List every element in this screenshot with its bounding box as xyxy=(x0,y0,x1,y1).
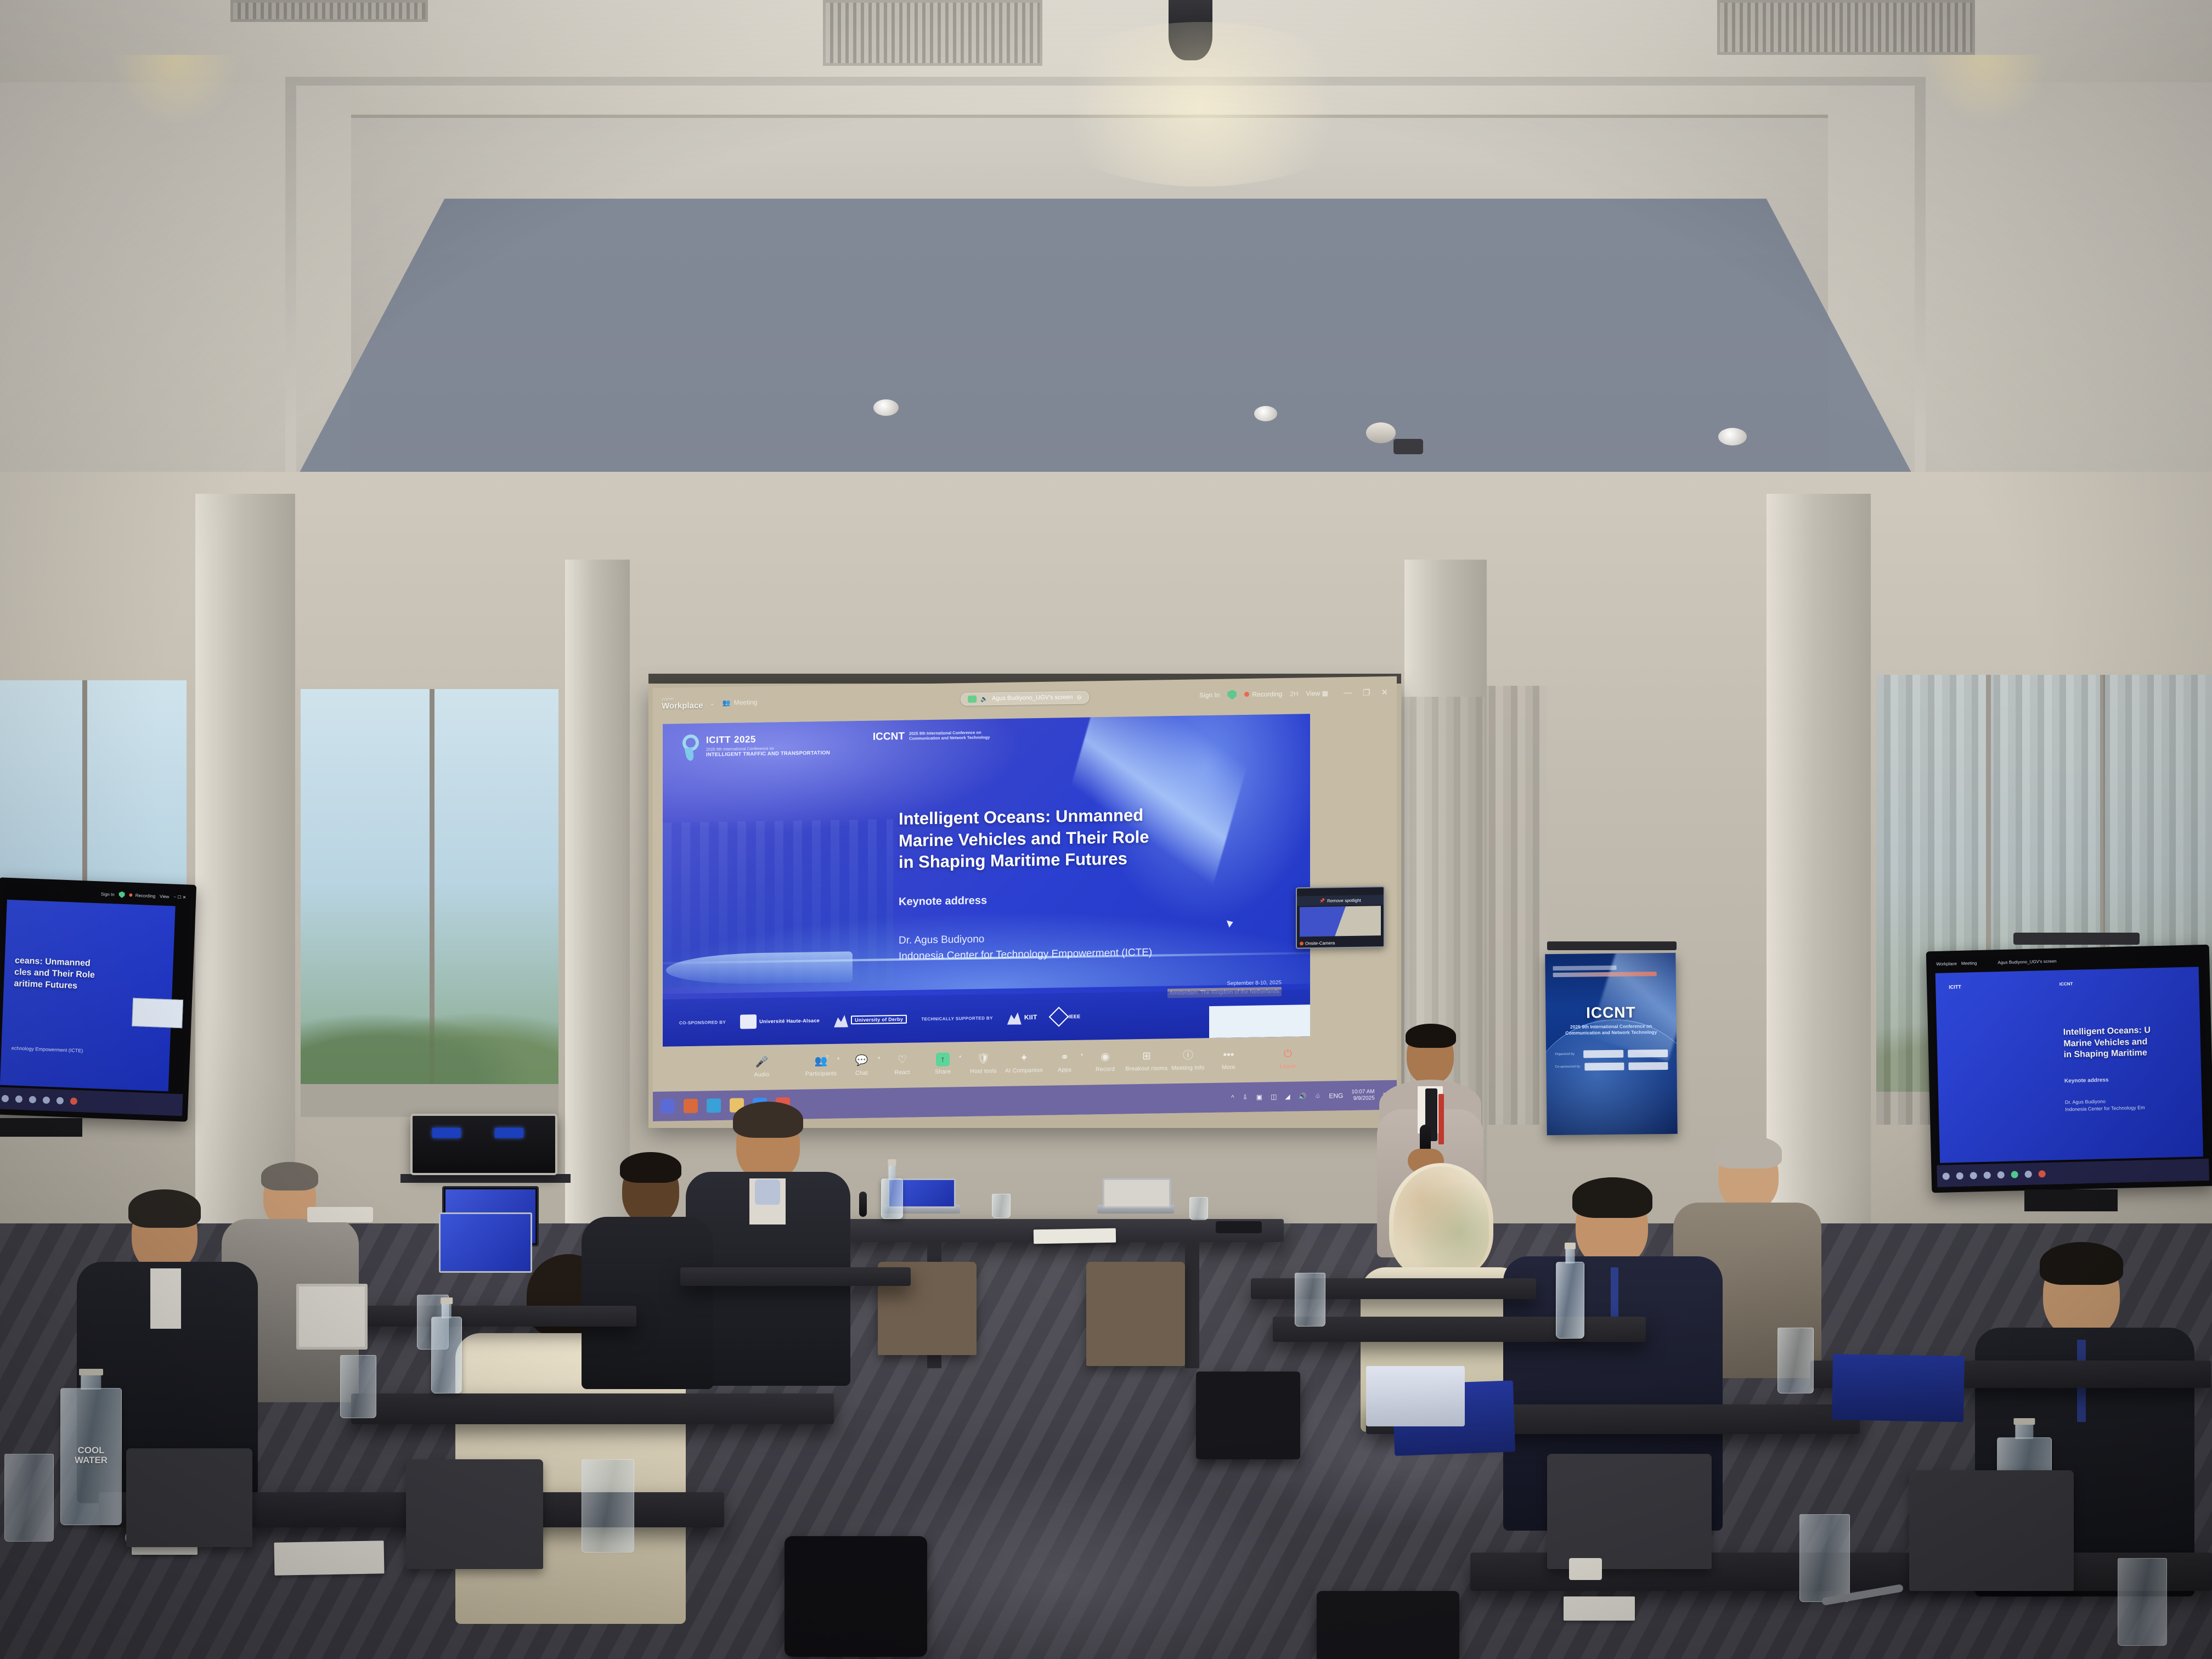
window-sill xyxy=(301,1084,558,1117)
meeting-duration: 2H xyxy=(1290,690,1298,698)
zoom-brand-line2: Workplace xyxy=(662,701,703,711)
view-button[interactable]: View ▦ xyxy=(1306,690,1328,698)
side-monitor-left-stand xyxy=(0,1118,82,1137)
conference-folder xyxy=(1366,1366,1465,1426)
toolbar-label: Audio xyxy=(754,1071,770,1077)
toolbar-label: Record xyxy=(1096,1065,1115,1073)
water-bottle xyxy=(881,1178,903,1219)
banner-header-lines xyxy=(1553,965,1668,979)
drinking-glass xyxy=(4,1454,54,1542)
water-bottle-cool-water: COOL WATER xyxy=(60,1388,122,1525)
zoom-brand: Workplace xyxy=(1936,961,1957,967)
slide-conference-logos: ICITT2025 2025 9th International Confere… xyxy=(682,730,997,760)
audience-table xyxy=(329,1306,636,1327)
structural-column xyxy=(565,560,630,1229)
sponsor-logo-uha: Université Haute-Alsace xyxy=(740,1011,820,1031)
view-label: View xyxy=(160,894,170,899)
toolbar-button-breakout-rooms[interactable]: ⊞Breakout rooms xyxy=(1126,1049,1168,1072)
supporter-logo-ieee: IEEE xyxy=(1052,1007,1081,1026)
paper-sheet xyxy=(307,1207,373,1222)
audience-table xyxy=(1251,1278,1536,1299)
chevron-up-icon[interactable]: ▲ xyxy=(877,1056,881,1059)
monitor-top-rail xyxy=(2013,933,2140,945)
toolbar-label: React xyxy=(894,1069,910,1075)
chair xyxy=(1909,1470,2074,1591)
banner-logo-rows: Organized by Co-sponsored by xyxy=(1555,1049,1668,1071)
hair xyxy=(261,1162,318,1190)
record-icon: ◉ xyxy=(1098,1049,1112,1063)
icitt-droplet-icon xyxy=(682,735,701,760)
paper-sheet xyxy=(1564,1596,1635,1621)
breakout-rooms-icon xyxy=(29,1096,36,1103)
table-microphone xyxy=(859,1192,867,1217)
minimize-button[interactable]: — xyxy=(1344,688,1352,698)
perforated-ceiling-grid xyxy=(285,199,1926,499)
recording-status[interactable]: Recording xyxy=(1244,690,1282,698)
table-leg xyxy=(1185,1242,1199,1368)
mixer-display-left xyxy=(432,1128,461,1138)
ceiling-sensor xyxy=(1393,439,1423,454)
chevron-up-icon[interactable]: ▲ xyxy=(958,1054,962,1058)
teams-icon[interactable] xyxy=(661,1099,675,1113)
toolbar-label: Breakout rooms xyxy=(1126,1065,1168,1072)
zoom-workplace-brand: zoom Workplace xyxy=(662,697,703,710)
share-source-label: Agus Budiyono_UGV's screen xyxy=(1997,958,2057,965)
toolbar-button-leave[interactable]: ⏻Leave xyxy=(1267,1047,1308,1070)
banner-subtitle: 2025 9th International Conference on Com… xyxy=(1555,1023,1668,1037)
side-right-slide: ICITT ICCNT Intelligent Oceans: U Marine… xyxy=(1936,967,2203,1163)
bag xyxy=(1317,1591,1459,1659)
sign-in-label: Sign In xyxy=(101,891,115,897)
toolbar-label: More xyxy=(1222,1064,1235,1070)
conference-room-photo: zoom Workplace ⌄ 👥 Meeting 🔈 Agus Budiyo… xyxy=(0,0,2212,1659)
toolbar-label: Host tools xyxy=(970,1068,997,1075)
audience-table xyxy=(351,1393,834,1424)
host-tools-icon: 🛡 xyxy=(977,1052,990,1065)
iccnt-sub: 2025 9th International Conference on Com… xyxy=(909,730,997,741)
side-monitor-left: Sign In Recording View − ☐ ✕ ceans: Unma… xyxy=(0,877,196,1122)
side-right-toolbar xyxy=(1937,1159,2209,1187)
remove-spotlight-button[interactable]: 📌 Remove spotlight xyxy=(1297,895,1384,906)
structural-column xyxy=(195,494,295,1262)
screenshot-icon[interactable]: ▣ xyxy=(1256,1093,1262,1101)
volume-icon[interactable]: 🔊 xyxy=(1299,1092,1307,1100)
toolbar-button-react[interactable]: ♡React xyxy=(882,1053,923,1076)
leave-meeting-icon xyxy=(70,1097,77,1104)
av-shelf xyxy=(400,1174,571,1183)
mic-muted-icon xyxy=(1300,941,1304,945)
side-left-title: ceans: Unmanned cles and Their Role arit… xyxy=(14,956,163,996)
chair xyxy=(1547,1454,1712,1569)
laptop-screen xyxy=(296,1284,368,1350)
icitt-acronym: ICITT2025 xyxy=(706,732,830,746)
water-bottle-label: COOL WATER xyxy=(61,1446,121,1465)
stop-share-icon[interactable]: ⊖ xyxy=(1077,693,1082,701)
apps-icon: ⚭ xyxy=(1058,1051,1071,1064)
tab-meeting-label: Meeting xyxy=(1961,961,1977,966)
people-icon: 👥 xyxy=(723,699,731,707)
ai-companion-icon: ✦ xyxy=(1017,1051,1031,1065)
ceiling-band xyxy=(285,77,296,499)
taskbar-clock[interactable]: 10:07 AM 9/9/2025 xyxy=(1351,1088,1374,1103)
more-icon xyxy=(2025,1170,2032,1177)
toolbar-label: AI Companion xyxy=(1005,1066,1043,1074)
ceiling-band xyxy=(1915,77,1926,499)
ceiling xyxy=(0,0,2212,494)
clock-date: 9/9/2025 xyxy=(1351,1095,1374,1102)
toolbar-label: Apps xyxy=(1058,1066,1071,1073)
zoom-titlebar-right: Sign In Recording 2H View ▦ — ❐ ✕ xyxy=(1199,687,1388,700)
name-card xyxy=(1569,1558,1602,1580)
banner-logo-row: Organized by xyxy=(1555,1049,1668,1058)
hair xyxy=(1572,1177,1652,1218)
toolbar-button-record[interactable]: ◉Record xyxy=(1085,1049,1126,1073)
chair xyxy=(406,1459,543,1569)
chair xyxy=(126,1448,252,1547)
bluetooth-icon[interactable]: ♧ xyxy=(1315,1092,1321,1100)
pendant-light-glow xyxy=(1031,22,1372,187)
side-right-author: Dr. Agus Budiyono Indonesia Center for T… xyxy=(2065,1097,2145,1113)
side-right-title: Intelligent Oceans: U Marine Vehicles an… xyxy=(2063,1024,2185,1062)
backpack xyxy=(785,1536,927,1657)
side-left-affiliation: echnology Empowerment (ICTE) xyxy=(12,1045,83,1054)
drinking-glass xyxy=(1799,1514,1850,1602)
drinking-glass xyxy=(992,1194,1011,1218)
zoom-meeting-window[interactable]: zoom Workplace ⌄ 👥 Meeting 🔈 Agus Budiyo… xyxy=(653,676,1397,1121)
shirt xyxy=(150,1268,181,1329)
onedrive-icon[interactable]: ⇩ xyxy=(1243,1093,1248,1101)
hair xyxy=(733,1102,803,1138)
selfview-video-feed xyxy=(1300,906,1381,936)
side-left-selfview xyxy=(132,998,183,1028)
toolbar-label: Share xyxy=(935,1068,951,1075)
side-right-kicker: Keynote address xyxy=(2064,1077,2109,1085)
clock-time: 10:07 AM xyxy=(1351,1088,1374,1096)
side-left-slide: ceans: Unmanned cles and Their Role arit… xyxy=(0,900,175,1092)
cosponsor-label: CO-SPONSORED BY xyxy=(679,1019,726,1025)
ceiling-dome-light xyxy=(1718,428,1747,445)
chevron-down-icon[interactable]: ⌄ xyxy=(710,699,715,707)
toolbar-button-audio[interactable]: 🎤Audio xyxy=(742,1055,782,1078)
drinking-glass xyxy=(1189,1197,1208,1220)
remove-spotlight-label: Remove spotlight xyxy=(1327,898,1361,903)
screen-share-icon xyxy=(968,695,977,702)
toolbar-button-apps[interactable]: ⚭▲Apps xyxy=(1045,1050,1085,1073)
window-controls: − ☐ ✕ xyxy=(173,894,186,900)
heart-icon: ♡ xyxy=(895,1053,909,1066)
ceiling-dome-light xyxy=(873,399,899,416)
more-icon: ••• xyxy=(1222,1048,1235,1062)
toolbar-button-participants[interactable]: 👥7▲Participants xyxy=(801,1054,842,1077)
slide-overlap-white-box xyxy=(1209,1005,1310,1038)
speaker-icon: 🔈 xyxy=(980,695,988,702)
conference-tote-bag xyxy=(1832,1354,1965,1422)
presenter-lanyard xyxy=(1438,1094,1444,1144)
toolbar-separator xyxy=(1249,1058,1267,1059)
tab-meeting[interactable]: 👥 Meeting xyxy=(723,698,758,707)
participants-icon xyxy=(1956,1172,1963,1179)
slide-kicker: Keynote address xyxy=(899,894,987,909)
laptop-screen xyxy=(1103,1178,1171,1208)
water-bottle xyxy=(1556,1262,1584,1339)
slide-author: Dr. Agus Budiyono Indonesia Center for T… xyxy=(899,929,1152,964)
side-monitor-right-screen: Workplace Meeting Agus Budiyono_UGV's sc… xyxy=(1932,950,2209,1187)
toolbar-button-ai-companion[interactable]: ✦AI Companion xyxy=(1004,1051,1045,1074)
banner-logo-row: Co-sponsored by xyxy=(1555,1062,1668,1071)
cove-light xyxy=(110,55,241,126)
audience-table xyxy=(1273,1317,1646,1342)
sponsor-logo-derby: University of Derby xyxy=(834,1010,907,1030)
ceiling-air-vent xyxy=(823,0,1042,66)
remote-control xyxy=(1216,1221,1262,1233)
breakout-rooms-icon: ⊞ xyxy=(1139,1049,1153,1063)
toolbar-separator xyxy=(782,1066,801,1066)
window-bay-left-2 xyxy=(301,689,558,1117)
window-controls: — ❐ ✕ xyxy=(1344,687,1388,698)
icitt-sub2: INTELLIGENT TRAFFIC AND TRANSPORTATION xyxy=(706,750,830,758)
tab-meeting-label: Meeting xyxy=(734,698,758,707)
water-bottle xyxy=(431,1317,462,1393)
info-icon: ⓘ xyxy=(1181,1048,1195,1062)
slide-title: Intelligent Oceans: Unmanned Marine Vehi… xyxy=(899,803,1250,873)
toolbar-button-chat[interactable]: 💬▲Chat xyxy=(842,1053,882,1076)
chevron-up-icon[interactable]: ^ xyxy=(1231,1093,1234,1101)
toolbar-label: Participants xyxy=(805,1070,837,1077)
banner-acronym: ICCNT xyxy=(1545,1003,1676,1022)
icitt-logo: ICITT2025 2025 9th International Confere… xyxy=(682,732,830,760)
toolbar-button-more[interactable]: •••More xyxy=(1208,1047,1249,1070)
toolbar-button-share[interactable]: ↑▲Share xyxy=(923,1052,963,1075)
toolbar-button-meeting-info[interactable]: ⓘMeeting Info xyxy=(1167,1048,1208,1071)
language-indicator[interactable]: ENG xyxy=(1329,1092,1343,1099)
roll-up-banner-iccnt: ICCNT 2025 9th International Conference … xyxy=(1545,953,1677,1135)
share-screen-icon: ↑ xyxy=(936,1052,950,1066)
hair xyxy=(2040,1242,2123,1285)
camera-icon[interactable]: ◫ xyxy=(1271,1093,1277,1101)
sign-in-button[interactable]: Sign In xyxy=(1199,691,1220,699)
laptop-screen xyxy=(439,1212,532,1273)
hair xyxy=(620,1152,681,1183)
banner-pole xyxy=(1547,941,1677,950)
side-right-iccnt: ICCNT xyxy=(2059,981,2073,987)
shared-slide: ICITT2025 2025 9th International Confere… xyxy=(663,714,1310,1047)
presenter-hair xyxy=(1406,1024,1456,1048)
smoke-detector-icon xyxy=(1366,422,1396,443)
drinking-glass xyxy=(1295,1273,1325,1327)
soffit-left xyxy=(0,82,351,499)
drinking-glass xyxy=(2118,1558,2167,1646)
drinking-glass xyxy=(1778,1328,1814,1393)
side-left-toolbar xyxy=(0,1087,183,1116)
wifi-icon[interactable]: ◢ xyxy=(1285,1093,1290,1101)
supporter-logo-kiit: KIIT xyxy=(1007,1008,1037,1027)
screen-share-indicator[interactable]: 🔈 Agus Budiyono_UGV's screen ⊖ xyxy=(961,691,1089,706)
cove-light xyxy=(1920,55,2052,126)
window-foliage xyxy=(301,1002,558,1095)
side-monitor-left-screen: Sign In Recording View − ☐ ✕ ceans: Unma… xyxy=(0,883,191,1116)
toolbar-label: Meeting Info xyxy=(1171,1064,1204,1071)
shield-icon[interactable] xyxy=(1227,690,1237,699)
record-icon xyxy=(2011,1171,2018,1178)
chevron-up-icon[interactable]: ▲ xyxy=(1080,1052,1084,1056)
record-icon xyxy=(15,1095,22,1102)
toolbar-label: Leave xyxy=(1280,1063,1296,1069)
audio-mixer-rack xyxy=(410,1114,557,1175)
drinking-glass xyxy=(340,1355,376,1418)
chat-icon xyxy=(1970,1172,1977,1179)
audience-table xyxy=(680,1267,911,1286)
toolbar-label: Chat xyxy=(855,1069,868,1076)
system-tray[interactable]: ^ ⇩ ▣ ◫ ◢ 🔊 ♧ ENG 10:07 AM 9/9/2025 ▦ xyxy=(1231,1088,1389,1104)
apps-icon xyxy=(2,1094,9,1102)
iccnt-acronym: ICCNT xyxy=(873,731,905,742)
selfview-thumbnail[interactable]: 📌 Remove spotlight Onsite-Camera xyxy=(1296,886,1385,949)
recording-label: Recording xyxy=(129,893,156,899)
participants-count-badge: 7 xyxy=(826,1054,829,1059)
side-right-icitt: ICITT xyxy=(1949,984,1961,990)
host-tools-icon xyxy=(1997,1171,2005,1178)
support-label: TECHNICALLY SUPPORTED BY xyxy=(921,1015,993,1022)
mixer-display-right xyxy=(495,1128,523,1138)
zoom-brand-line1: zoom xyxy=(662,697,703,702)
info-icon xyxy=(43,1096,50,1103)
more-icon xyxy=(57,1097,64,1104)
drinking-glass xyxy=(582,1459,634,1553)
ceiling-air-vent xyxy=(1717,0,1975,55)
layout-icon: ▦ xyxy=(1322,690,1328,697)
close-button[interactable]: ✕ xyxy=(1381,687,1388,697)
microphone-icon: 🎤 xyxy=(755,1055,769,1069)
chat-icon: 💬 xyxy=(855,1053,868,1067)
paper-sheet xyxy=(274,1541,384,1575)
pin-icon: 📌 xyxy=(1319,898,1325,903)
ceiling-air-vent xyxy=(230,0,428,22)
face-mask xyxy=(755,1180,780,1205)
sheer-curtain-center xyxy=(1481,686,1547,1125)
ceiling-dome-light xyxy=(1254,406,1277,421)
maximize-button[interactable]: ❐ xyxy=(1363,687,1370,697)
hair xyxy=(128,1189,201,1228)
share-screen-icon xyxy=(1984,1171,1991,1178)
paper-sheet xyxy=(1034,1228,1116,1244)
selfview-participant-name: Onsite-Camera xyxy=(1300,940,1335,946)
leave-meeting-icon: ⏻ xyxy=(1281,1047,1295,1060)
share-source-label: Agus Budiyono_UGV's screen xyxy=(992,694,1073,702)
chair xyxy=(1086,1262,1185,1366)
leave-meeting-icon xyxy=(2039,1170,2046,1177)
side-monitor-right: Workplace Meeting Agus Budiyono_UGV's sc… xyxy=(1926,945,2212,1193)
audio-icon xyxy=(1943,1172,1950,1180)
chevron-up-icon[interactable]: ▲ xyxy=(837,1056,840,1060)
iccnt-logo: ICCNT 2025 9th International Conference … xyxy=(873,730,997,742)
shield-icon xyxy=(119,891,125,898)
laptop-bag xyxy=(1196,1372,1300,1459)
toolbar-button-host-tools[interactable]: 🛡Host tools xyxy=(963,1051,1004,1074)
hair xyxy=(1715,1136,1782,1169)
headscarf xyxy=(1389,1163,1493,1278)
side-monitor-right-stand xyxy=(2024,1189,2118,1211)
